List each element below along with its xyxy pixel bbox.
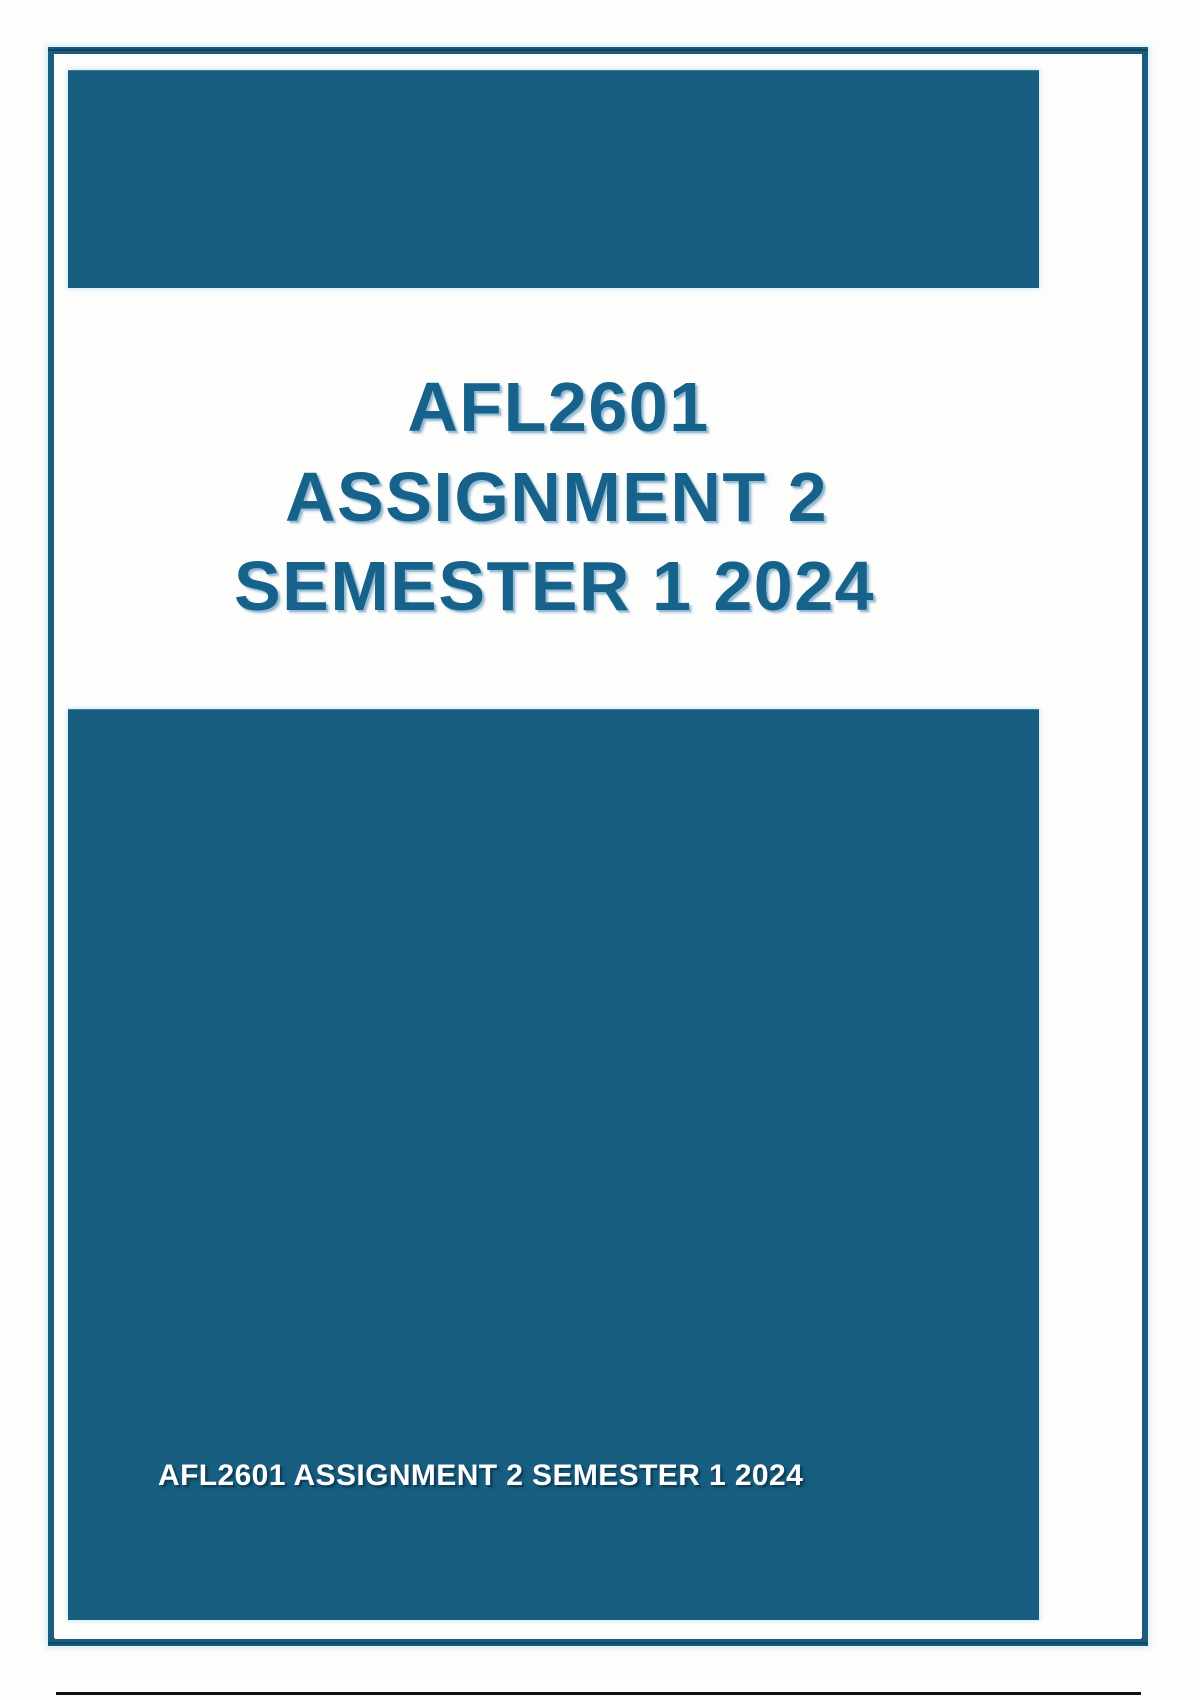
cover-title-line-3: SEMESTER 1 2024	[234, 542, 875, 632]
header-blue-band	[68, 70, 1039, 288]
page-bottom-rule	[56, 1692, 1141, 1695]
cover-title-line-1: AFL2601	[407, 363, 709, 453]
cover-footer-caption: AFL2601 ASSIGNMENT 2 SEMESTER 1 2024	[158, 1459, 988, 1493]
cover-title-line-2: ASSIGNMENT 2	[285, 453, 828, 543]
cover-title-block: AFL2601 ASSIGNMENT 2 SEMESTER 1 2024	[68, 290, 1039, 705]
document-page: AFL2601 ASSIGNMENT 2 SEMESTER 1 2024 AFL…	[0, 0, 1200, 1700]
